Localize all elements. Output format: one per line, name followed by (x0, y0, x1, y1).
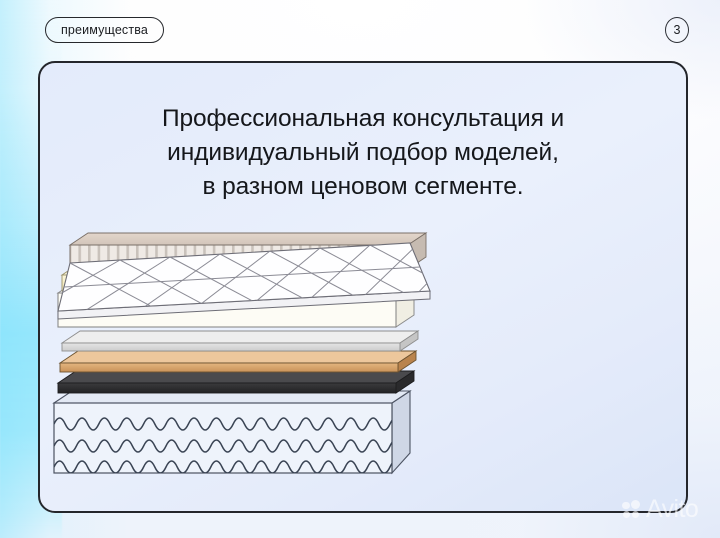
section-badge-label: преимущества (61, 23, 148, 37)
headline-line-2: индивидуальный подбор моделей, (66, 136, 660, 170)
headline-line-3: в разном ценовом сегменте. (66, 170, 660, 204)
layer-bonnell-springs (54, 391, 410, 473)
content-card: Профессиональная консультация и индивиду… (38, 61, 688, 513)
layer-felt (62, 331, 418, 351)
mattress-illustration (40, 231, 688, 493)
layer-coir (60, 351, 416, 372)
slide-canvas: преимущества 3 Профессиональная консульт… (0, 0, 720, 538)
section-badge: преимущества (45, 17, 164, 43)
headline-line-1: Профессиональная консультация и (66, 102, 660, 136)
page-number-indicator: 3 (665, 17, 689, 43)
page-number-label: 3 (674, 23, 681, 37)
page-title: Профессиональная консультация и индивиду… (40, 102, 686, 204)
layer-dark-base (58, 371, 414, 393)
